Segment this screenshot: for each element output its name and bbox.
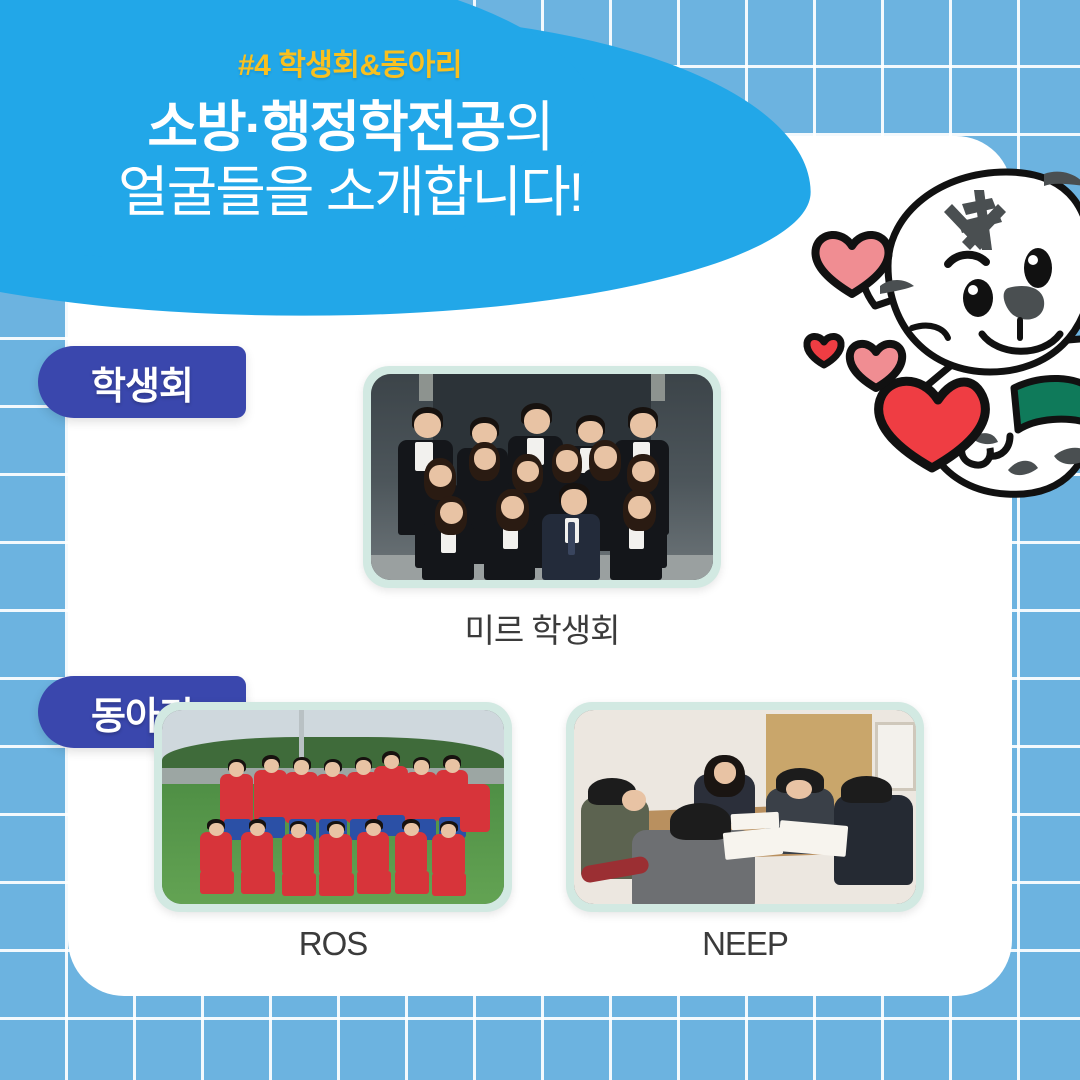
photo-frame-neep xyxy=(566,702,924,912)
photo-ros-soccer-team xyxy=(162,710,504,904)
photo-frame-mir xyxy=(363,366,721,588)
tiger-eye-open xyxy=(1024,248,1052,288)
photo-neep-study-meeting xyxy=(574,710,916,904)
photo-mir-student-council xyxy=(371,374,713,580)
photo-frame-ros xyxy=(154,702,512,912)
header-blob: #4 학생회&동아리 소방·행정학전공의 얼굴들을 소개합니다! xyxy=(0,0,820,330)
section-badge-student-council: 학생회 xyxy=(38,346,246,418)
white-tiger-mascot xyxy=(792,138,1080,538)
caption-ros: ROS xyxy=(154,925,512,963)
header-title-line1: 소방·행정학전공의 xyxy=(0,98,700,157)
tiger-eye-lower-highlight xyxy=(968,285,978,295)
tiger-scarf xyxy=(1014,378,1080,430)
header-text-group: #4 학생회&동아리 소방·행정학전공의 얼굴들을 소개합니다! xyxy=(0,40,700,222)
header-title-tail: 의 xyxy=(504,96,553,158)
caption-neep: NEEP xyxy=(566,925,924,963)
tiger-eye-highlight xyxy=(1028,255,1038,265)
header-title-strong: 소방·행정학전공 xyxy=(147,96,504,158)
caption-mir: 미르 학생회 xyxy=(363,604,721,652)
heart-floating-small xyxy=(807,336,841,365)
header-title-line2: 얼굴들을 소개합니다! xyxy=(0,163,700,222)
poster-canvas: #4 학생회&동아리 소방·행정학전공의 얼굴들을 소개합니다! 학생회 동아리 xyxy=(0,0,1080,1080)
tiger-eye-lower-left xyxy=(963,279,993,317)
header-kicker: #4 학생회&동아리 xyxy=(0,40,700,84)
